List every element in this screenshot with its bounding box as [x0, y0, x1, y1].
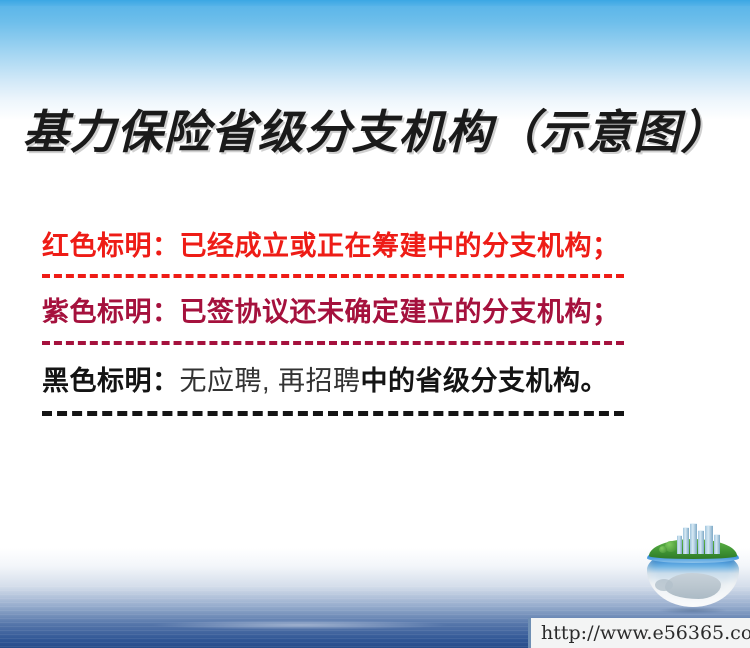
sea-glint	[150, 620, 450, 630]
legend-text-black: 黑色标明：无应聘, 再招聘中的省级分支机构。	[42, 367, 652, 395]
building-icon-1	[683, 527, 689, 554]
building-icon-6	[677, 535, 682, 554]
legend-lead-red: 红色标明：	[42, 231, 180, 261]
slide-canvas: 基力保险省级分支机构（示意图） 红色标明：已经成立或正在筹建中的分支机构； 紫色…	[0, 0, 750, 648]
legend-block: 红色标明：已经成立或正在筹建中的分支机构； 紫色标明：已签协议还未确定建立的分支…	[42, 232, 652, 416]
legend-divider-red	[42, 274, 624, 278]
sky-top-band	[0, 0, 750, 6]
legend-divider-purple	[42, 341, 624, 345]
building-icon-5	[714, 534, 720, 554]
slide-title: 基力保险省级分支机构（示意图）	[0, 96, 750, 162]
watermark-url-text: http://www.e56365.com	[541, 622, 750, 644]
globe-continent-shape	[665, 573, 721, 599]
earth-city-globe-icon	[641, 521, 745, 617]
tree-icon-2	[659, 546, 667, 553]
legend-divider-black	[42, 411, 624, 416]
legend-lead-black: 黑色标明：	[42, 366, 180, 396]
building-icon-4	[705, 525, 713, 554]
building-icon-3	[698, 530, 704, 554]
globe-drop-shadow	[659, 607, 727, 614]
watermark-url-box: http://www.e56365.com	[528, 618, 750, 648]
legend-text-red: 红色标明：已经成立或正在筹建中的分支机构；	[42, 232, 652, 260]
legend-row-red: 红色标明：已经成立或正在筹建中的分支机构；	[42, 232, 652, 278]
legend-row-purple: 紫色标明：已签协议还未确定建立的分支机构；	[42, 298, 652, 344]
legend-row-black: 黑色标明：无应聘, 再招聘中的省级分支机构。	[42, 367, 652, 416]
legend-mid-black: 无应聘, 再招聘	[180, 366, 361, 396]
legend-text-purple: 紫色标明：已签协议还未确定建立的分支机构；	[42, 298, 652, 326]
legend-tail-black: 中的省级分支机构。	[361, 366, 609, 396]
building-icon-2	[690, 523, 697, 554]
globe-continent-shape-small	[655, 579, 673, 591]
legend-tail-red: 已经成立或正在筹建中的分支机构；	[180, 231, 620, 261]
legend-tail-purple: 已签协议还未确定建立的分支机构；	[180, 297, 620, 327]
legend-lead-purple: 紫色标明：	[42, 297, 180, 327]
